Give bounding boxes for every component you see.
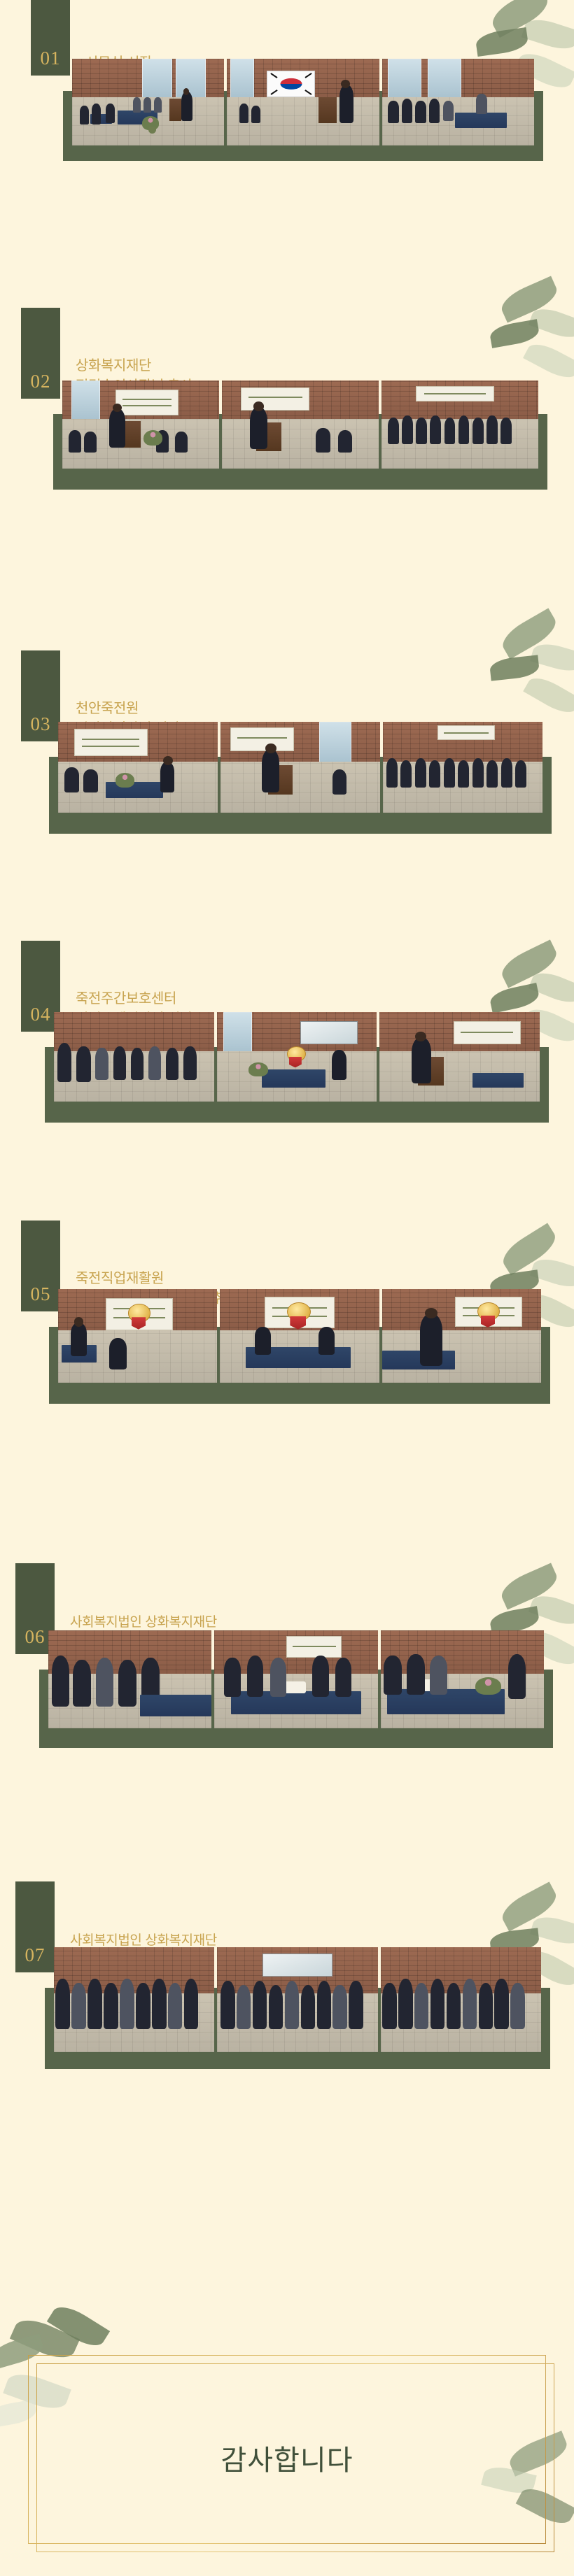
photo [54, 1947, 214, 2052]
photo [72, 59, 224, 145]
section-07: 07 사회복지법인 상화복지재단 전 종사자 단체사진 [0, 1881, 574, 2069]
photo [58, 1289, 217, 1383]
photo [58, 722, 218, 813]
photo [382, 1289, 541, 1383]
photo [382, 59, 534, 145]
photo [48, 1630, 211, 1728]
section-01-photo-band [63, 91, 543, 161]
photo [381, 380, 538, 469]
section-04-photo-band [45, 1047, 549, 1123]
section-02: 02 상화복지재단 정밀순이사장님 축사 [0, 308, 574, 490]
section-06: 06 사회복지법인 상화복지재단 시설장, 최고관리자 케이크 커팅식 [0, 1563, 574, 1748]
closing-section: 감사합니다 [0, 2340, 574, 2576]
section-02-title-line-1: 상화복지재단 [76, 356, 574, 376]
section-04-title-line-1: 죽전주간보호센터 [76, 989, 574, 1009]
section-03: 03 천안죽전원 이상남원장님 인사 [0, 650, 574, 834]
photo [62, 380, 219, 469]
photo [379, 1012, 540, 1102]
section-03-photo-band [49, 757, 552, 834]
section-03-title-line-1: 천안죽전원 [76, 699, 574, 718]
photo [220, 1289, 379, 1383]
section-01: 01 시무식 시작 [0, 0, 574, 161]
photo [220, 722, 380, 813]
photo [217, 1012, 377, 1102]
section-07-photo-band [45, 1988, 550, 2069]
photo [383, 722, 542, 813]
closing-thanks-text: 감사합니다 [0, 2438, 574, 2478]
photo [217, 1947, 377, 2052]
section-06-title-line-1: 사회복지법인 상화복지재단 [70, 1614, 574, 1632]
photo [54, 1012, 214, 1102]
photo [222, 380, 379, 469]
section-04: 04 죽전주간보호센터 정병규센터장님 인사 [0, 941, 574, 1123]
section-02-photo-band [53, 414, 547, 490]
photo [381, 1947, 541, 2052]
section-05: 05 죽전직업재활원 이계수원장님 임명식 및 취임사 [0, 1221, 574, 1404]
section-06-photo-band [39, 1670, 553, 1748]
section-05-title-line-1: 죽전직업재활원 [76, 1269, 574, 1288]
photo [214, 1630, 377, 1728]
section-05-photo-band [49, 1327, 550, 1404]
infographic-page: 01 시무식 시작 [0, 0, 574, 2576]
photo [381, 1630, 544, 1728]
photo [227, 59, 379, 145]
